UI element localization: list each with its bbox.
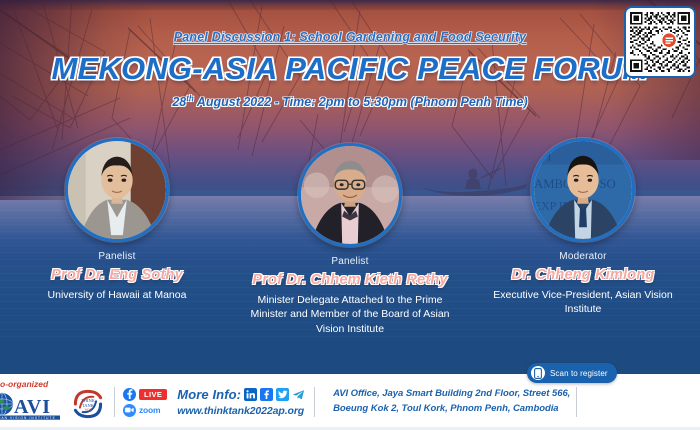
footer-divider xyxy=(114,387,115,417)
avatar: I I AMBOD ESSO EXP IN xyxy=(531,138,635,242)
thinktank-line3: 2022 xyxy=(84,409,91,413)
event-datetime: 28th August 2022 - Time: 2pm to 5:30pm (… xyxy=(0,94,700,109)
office-address: AVI Office, Jaya Smart Building 2nd Floo… xyxy=(333,387,570,416)
zoom-badge[interactable]: zoom xyxy=(123,404,167,417)
facebook-icon-glyph xyxy=(263,390,270,399)
date-day: 28 xyxy=(172,95,186,109)
panelist-name: Prof Dr. Eng Sothy xyxy=(1,267,234,283)
twitter-icon[interactable] xyxy=(276,388,289,401)
avatar xyxy=(298,143,402,247)
phone-icon xyxy=(531,366,545,380)
panelist-affiliation: Minister Delegate Attached to the Prime … xyxy=(234,293,467,336)
panelist-card: Panelist Prof Dr. Chhem Kieth Rethy Mini… xyxy=(234,143,467,336)
more-info-block: More Info: xyxy=(177,387,305,417)
qr-code-glyph xyxy=(630,12,690,72)
thinktank-logo[interactable]: THINK TANK 2022 xyxy=(70,386,106,422)
panelist-card: I I AMBOD ESSO EXP IN xyxy=(467,138,700,317)
panel-discussion-kicker: Panel Discussion 1: School Gardening and… xyxy=(0,30,700,44)
twitter-icon-glyph xyxy=(278,390,288,399)
avatar xyxy=(65,138,169,242)
avi-logo-subtext: ASIAN VISION INSTITUTE xyxy=(0,416,56,420)
page-title: MEKONG-ASIA PACIFIC PEACE FORUM xyxy=(0,53,700,86)
footer-divider xyxy=(314,387,315,417)
portrait-eng-sothy xyxy=(68,141,166,239)
broadcast-channels: LIVE zoom xyxy=(123,388,167,417)
svg-text:AVI: AVI xyxy=(14,396,51,418)
scan-to-register-label: Scan to register xyxy=(550,369,608,378)
event-poster: Panel Discussion 1: School Gardening and… xyxy=(0,0,700,430)
date-ordinal-suffix: th xyxy=(186,94,194,103)
website-url[interactable]: www.thinktank2022ap.org xyxy=(177,405,305,417)
svg-text:I I: I I xyxy=(540,150,552,164)
organizer-logos: o-organized AVI ASIAN VISION INSTITUTE xyxy=(0,380,106,424)
facebook-live-badge[interactable]: LIVE xyxy=(123,388,167,401)
address-line-1: AVI Office, Jaya Smart Building 2nd Floo… xyxy=(333,387,570,402)
zoom-camera-icon-glyph xyxy=(125,407,134,413)
zoom-camera-icon xyxy=(123,404,136,417)
panelist-role: Panelist xyxy=(1,251,234,262)
live-badge-label: LIVE xyxy=(139,389,167,400)
linkedin-icon[interactable] xyxy=(244,388,257,401)
qr-code[interactable] xyxy=(624,6,696,78)
facebook-icon-glyph xyxy=(126,389,133,399)
moderator-affiliation: Executive Vice-President, Asian Vision I… xyxy=(467,288,700,317)
co-organized-label: o-organized xyxy=(0,379,48,389)
telegram-icon[interactable] xyxy=(292,388,305,401)
date-remainder: August 2022 - Time: 2pm to 5:30pm (Phnom… xyxy=(194,95,528,109)
panelist-name: Prof Dr. Chhem Kieth Rethy xyxy=(234,272,467,288)
avi-logo-block[interactable]: o-organized AVI ASIAN VISION INSTITUTE xyxy=(0,380,64,424)
scan-to-register-badge[interactable]: Scan to register xyxy=(527,363,617,383)
portrait-chhem-kieth-rethy xyxy=(301,146,399,244)
linkedin-icon-glyph xyxy=(246,390,255,399)
poster-header: Panel Discussion 1: School Gardening and… xyxy=(0,30,700,109)
footer-divider xyxy=(576,387,577,417)
panelist-card: Panelist Prof Dr. Eng Sothy University o… xyxy=(1,138,234,302)
moderator-role: Moderator xyxy=(467,251,700,262)
panelist-affiliation: University of Hawaii at Manoa xyxy=(1,288,234,302)
thinktank-line2: TANK xyxy=(82,403,95,408)
panelist-role: Panelist xyxy=(234,256,467,267)
more-info-label: More Info: xyxy=(177,387,241,402)
phone-icon-glyph xyxy=(534,368,542,379)
panelist-list: Panelist Prof Dr. Eng Sothy University o… xyxy=(0,138,700,363)
moderator-name: Dr. Chheng Kimlong xyxy=(467,267,700,283)
portrait-chheng-kimlong: I I AMBOD ESSO EXP IN xyxy=(534,141,632,239)
facebook-icon xyxy=(123,388,136,401)
zoom-label: zoom xyxy=(139,405,160,415)
avi-logo: AVI ASIAN VISION INSTITUTE xyxy=(0,390,74,420)
address-line-2: Boeung Kok 2, Toul Kork, Phnom Penh, Cam… xyxy=(333,402,570,417)
telegram-icon-glyph xyxy=(293,390,304,399)
facebook-icon[interactable] xyxy=(260,388,273,401)
